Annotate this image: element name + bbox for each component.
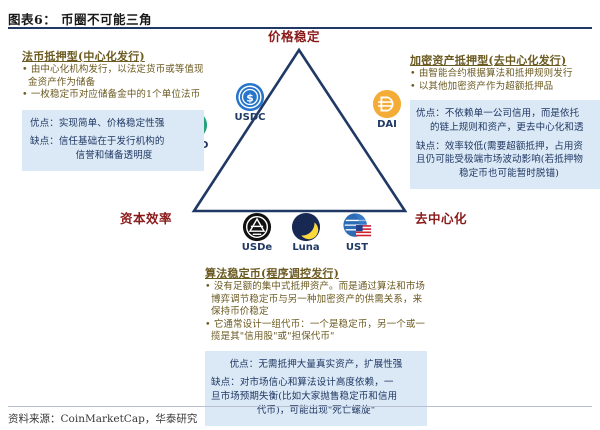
coin-label-dai: DAI xyxy=(359,120,415,131)
usde-coin-icon xyxy=(242,212,272,242)
panel-crypto-cons-row: 缺点：效率较低(需要超额抵押，占用资 且仍可能受极端市场波动影响(若抵押物 稳定… xyxy=(416,140,600,181)
panel-crypto-collateralized: 加密资产抵押型(去中心化发行) • 由智能合约根据算法和抵押规则发行 • 以其他… xyxy=(410,52,600,189)
panel-crypto-bullets: • 由智能合约根据算法和抵押规则发行 • 以其他加密资产作为超额抵押品 xyxy=(410,68,600,93)
panel-fiat-procon-box: 优点：实现简单、价格稳定性强 缺点：信任基础在于发行机构的 信誉和储备透明度 xyxy=(22,110,204,171)
chart-figure: 图表6： 币圈不可能三角 价格稳定 资本效率 去中心化 $ USDC DAI xyxy=(0,0,600,430)
panel-fiat-cons-text2: 信誉和储备透明度 xyxy=(30,149,198,163)
vertex-label-decentralization: 去中心化 xyxy=(415,208,467,227)
vertex-label-price-stability: 价格稳定 xyxy=(268,26,320,45)
panel-algo-pros-row: 优点：无需抵押大量真实资产，扩展性强 xyxy=(211,358,421,372)
panel-fiat-bullet-2: • 一枚稳定币对应储备金中的1个单位法币 xyxy=(22,89,207,102)
coin-label-usdc: USDC xyxy=(222,113,278,124)
luna-coin-icon xyxy=(291,212,321,242)
panel-algo-heading: 算法稳定币(程序调控发行) xyxy=(205,265,430,281)
panel-algo-bullet-1: • 没有足额的集中式抵押资产。而是通过算法和市场博弈调节稳定币与另一种加密资产的… xyxy=(205,281,430,319)
panel-crypto-bullet-2: • 以其他加密资产作为超额抵押品 xyxy=(410,81,600,94)
panel-algo-pros-text: 无需抵押大量真实资产，扩展性强 xyxy=(258,359,402,370)
dai-coin-icon xyxy=(372,89,402,119)
panel-crypto-cons-text3: 稳定币也可能暂时脱锚) xyxy=(416,167,600,181)
panel-crypto-cons-text2: 且仍可能受极端市场波动影响(若抵押物 xyxy=(416,153,600,167)
footer-divider xyxy=(8,406,592,407)
panel-fiat-bullets: • 由中心化机构发行，以法定货币或等值现金资产作为储备 • 一枚稳定币对应储备金… xyxy=(22,64,207,102)
panel-crypto-cons-label: 缺点： xyxy=(416,141,445,152)
panel-fiat-heading: 法币抵押型(中心化发行) xyxy=(22,48,207,64)
panel-algo-cons-row: 缺点：对市场信心和算法设计高度依赖，一 旦市场预期失衡(比如大家抛售稳定币和信用… xyxy=(211,376,421,417)
panel-algo-bullet-2: • 它通常设计一组代币：一个是稳定币，另一个或一揽是其"信用股"或"担保代币" xyxy=(205,319,430,344)
panel-crypto-cons-text: 效率较低(需要超额抵押，占用资 xyxy=(445,141,583,152)
panel-fiat-bullet-1: • 由中心化机构发行，以法定货币或等值现金资产作为储备 xyxy=(22,64,207,89)
panel-algo-bullets: • 没有足额的集中式抵押资产。而是通过算法和市场博弈调节稳定币与另一种加密资产的… xyxy=(205,281,430,344)
coin-label-luna: Luna xyxy=(278,243,334,254)
panel-crypto-bullet-1: • 由智能合约根据算法和抵押规则发行 xyxy=(410,68,600,81)
panel-algo-cons-label: 缺点： xyxy=(211,377,240,388)
panel-fiat-pros-label: 优点： xyxy=(30,118,59,129)
panel-algo-cons-text2: 旦市场预期失衡(比如大家抛售稳定币和信用 xyxy=(211,390,421,404)
panel-fiat-cons-label: 缺点： xyxy=(30,136,59,147)
panel-algo-cons-text: 对市场信心和算法设计高度依赖，一 xyxy=(240,377,394,388)
panel-crypto-pros-label: 优点： xyxy=(416,108,445,119)
coin-badge-luna: Luna xyxy=(278,212,334,254)
coin-badge-usdc: $ USDC xyxy=(222,82,278,124)
panel-algo-pros-label: 优点： xyxy=(230,359,259,370)
panel-algorithmic-stablecoin: 算法稳定币(程序调控发行) • 没有足额的集中式抵押资产。而是通过算法和市场博弈… xyxy=(205,265,430,426)
coin-badge-usde: USDe xyxy=(229,212,285,254)
panel-fiat-pros-text: 实现简单、价格稳定性强 xyxy=(59,118,165,129)
source-note: 资料来源：CoinMarketCap，华泰研究 xyxy=(8,411,197,426)
coin-badge-ust: UST xyxy=(329,212,385,254)
coin-label-ust: UST xyxy=(329,243,385,254)
svg-text:$: $ xyxy=(246,92,254,105)
coin-badge-dai: DAI xyxy=(359,89,415,131)
usdc-coin-icon: $ xyxy=(235,82,265,112)
ust-coin-icon xyxy=(342,212,372,242)
panel-crypto-pros-text: 不依赖单一公司信用，而是依托 xyxy=(445,108,579,119)
panel-crypto-procon-box: 优点：不依赖单一公司信用，而是依托 的链上规则和资产，更去中心化和透 缺点：效率… xyxy=(410,100,600,189)
panel-crypto-pros-text2: 的链上规则和资产，更去中心化和透 xyxy=(416,121,600,135)
vertex-label-capital-efficiency: 资本效率 xyxy=(120,208,172,227)
panel-crypto-pros-row: 优点：不依赖单一公司信用，而是依托 的链上规则和资产，更去中心化和透 xyxy=(416,107,600,135)
coin-label-usde: USDe xyxy=(229,243,285,254)
panel-fiat-cons-row: 缺点：信任基础在于发行机构的 信誉和储备透明度 xyxy=(30,135,198,163)
panel-fiat-pros-row: 优点：实现简单、价格稳定性强 xyxy=(30,117,198,131)
page-title: 图表6： 币圈不可能三角 xyxy=(8,9,152,28)
panel-fiat-collateralized: 法币抵押型(中心化发行) • 由中心化机构发行，以法定货币或等值现金资产作为储备… xyxy=(22,48,207,171)
panel-crypto-heading: 加密资产抵押型(去中心化发行) xyxy=(410,52,600,68)
panel-algo-procon-box: 优点：无需抵押大量真实资产，扩展性强 缺点：对市场信心和算法设计高度依赖，一 旦… xyxy=(205,351,427,426)
panel-fiat-cons-text: 信任基础在于发行机构的 xyxy=(59,136,165,147)
